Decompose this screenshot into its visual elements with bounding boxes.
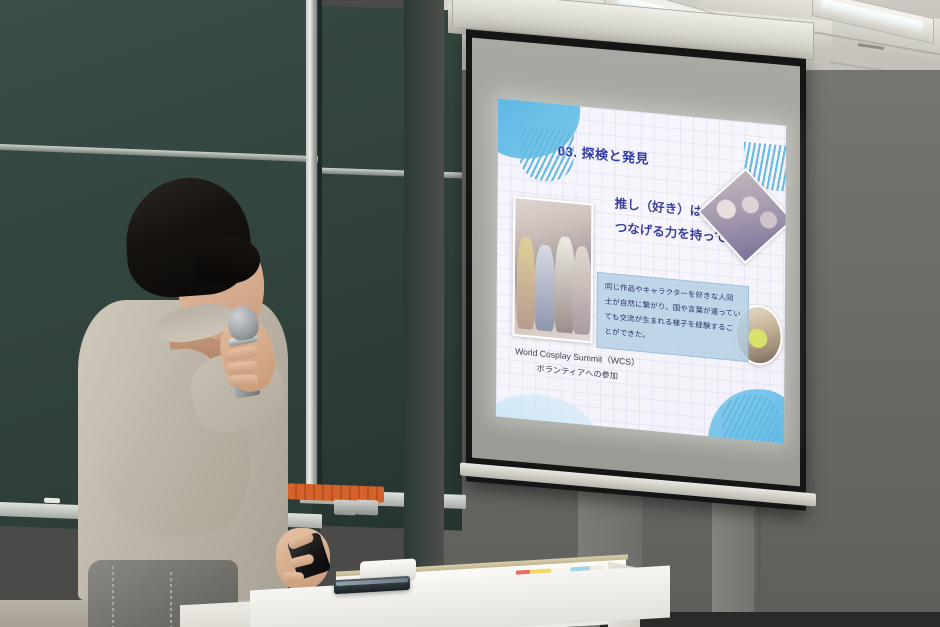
lecture-room-photo: 03. 探検と発見 推し（好き）は人と人を つなげる力を持っている 同じ作品やキ… — [0, 0, 940, 627]
photo-figure-2 — [535, 244, 556, 332]
wall-between-board-and-screen — [404, 0, 444, 627]
chalkboard-divider-frame — [306, 0, 317, 500]
clicker-thumb — [282, 572, 304, 583]
finger-4 — [228, 374, 258, 386]
jeans-seam-center — [170, 572, 172, 627]
slide-photo-cosplayers — [512, 196, 593, 343]
jeans-seam-left — [112, 566, 114, 627]
slide-content: 03. 探検と発見 推し（好き）は人と人を つなげる力を持っている 同じ作品やキ… — [496, 98, 786, 443]
chalkboard-eraser-2 — [356, 500, 378, 516]
photo-figure-4 — [573, 246, 592, 336]
chalk-piece — [44, 498, 60, 504]
chalkboard-divider-shadow — [318, 0, 322, 500]
slide-body-textbox: 同じ作品やキャラクターを好きな人同士が自然に繋がり、国や言葉が違っていても交流が… — [596, 272, 749, 362]
chalkboard-eraser-1 — [334, 500, 356, 516]
photo-figure-1 — [517, 236, 536, 330]
